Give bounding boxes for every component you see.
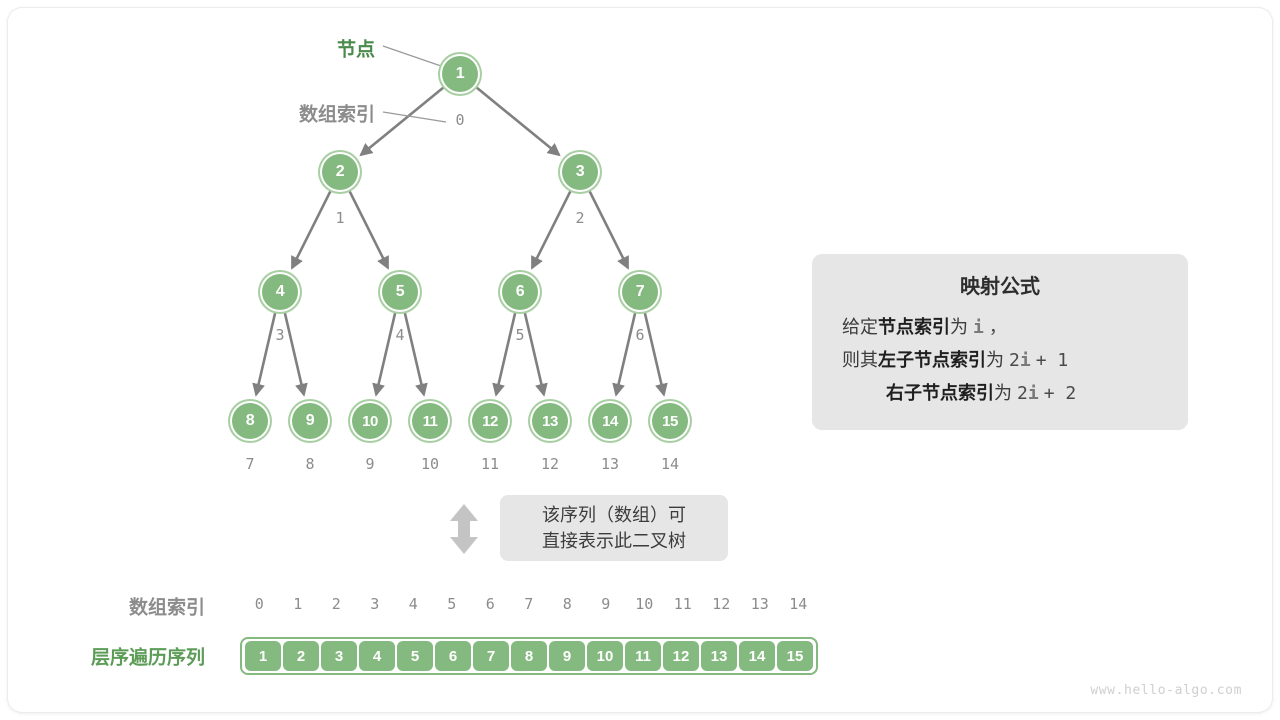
formula-l2-rest: + 1 [1036, 350, 1069, 371]
array-value-cell[interactable]: 7 [473, 641, 509, 671]
formula-l3-rest: + 2 [1044, 383, 1077, 404]
tree-index-label-8: 8 [305, 455, 314, 473]
formula-l1-pre: 给定 [842, 317, 878, 337]
array-index-cell: 2 [317, 595, 356, 617]
array-value-cell[interactable]: 2 [283, 641, 319, 671]
diagram-canvas: 123456789101112131415 012345678910111213… [0, 0, 1280, 720]
array-value-cell[interactable]: 11 [625, 641, 661, 671]
tree-index-label-4: 4 [395, 326, 404, 344]
tree-node-12: 12 [472, 403, 508, 439]
array-index-row-label: 数组索引 [129, 593, 205, 620]
array-index-cell: 7 [510, 595, 549, 617]
formula-l3-var: i [1028, 383, 1039, 404]
array-index-cell: 5 [433, 595, 472, 617]
array-index-cell: 10 [625, 595, 664, 617]
formula-l1-var: i [973, 317, 984, 338]
tree-index-label-1: 1 [335, 209, 344, 227]
tree-index-label-12: 12 [541, 455, 559, 473]
array-index-cell: 6 [471, 595, 510, 617]
array-value-cell[interactable]: 5 [397, 641, 433, 671]
array-index-cell: 12 [702, 595, 741, 617]
tree-node-15: 15 [652, 403, 688, 439]
formula-l3-num: 2 [1017, 383, 1028, 404]
array-value-cell[interactable]: 1 [245, 641, 281, 671]
tree-node-11: 11 [412, 403, 448, 439]
array-index-cell: 8 [548, 595, 587, 617]
formula-l3-bold: 右子节点索引 [886, 383, 994, 403]
array-value-cell[interactable]: 6 [435, 641, 471, 671]
tree-node-2: 2 [322, 154, 358, 190]
array-value-cell[interactable]: 3 [321, 641, 357, 671]
tree-index-label-14: 14 [661, 455, 679, 473]
formula-l2-num: 2 [1009, 350, 1020, 371]
formula-title: 映射公式 [960, 270, 1040, 299]
tree-index-label-3: 3 [275, 326, 284, 344]
array-index-row: 01234567891011121314 [240, 595, 818, 617]
array-values-row-label: 层序遍历序列 [91, 643, 205, 670]
tree-index-label-13: 13 [601, 455, 619, 473]
mapping-formula-box: 映射公式 给定节点索引为 i ， 则其左子节点索引为 2i + 1 右子节点索引… [812, 254, 1188, 430]
sequence-note-box: 该序列（数组）可 直接表示此二叉树 [500, 495, 728, 561]
tree-node-3: 3 [562, 154, 598, 190]
note-line-1: 该序列（数组）可 [542, 502, 686, 528]
array-value-cell[interactable]: 9 [549, 641, 585, 671]
array-value-cell[interactable]: 14 [739, 641, 775, 671]
formula-l2-var: i [1020, 350, 1031, 371]
formula-line-2: 则其左子节点索引为 2i + 1 [830, 346, 1170, 372]
tree-node-5: 5 [382, 274, 418, 310]
formula-line-1: 给定节点索引为 i ， [830, 313, 1170, 339]
formula-l1-bold: 节点索引 [878, 317, 950, 337]
formula-l2-mid: 为 [986, 350, 1004, 370]
watermark: www.hello-algo.com [1090, 683, 1242, 698]
tree-node-14: 14 [592, 403, 628, 439]
tree-index-label-2: 2 [575, 209, 584, 227]
tree-node-4: 4 [262, 274, 298, 310]
formula-line-3: 右子节点索引为 2i + 2 [830, 379, 1170, 405]
array-value-cell[interactable]: 13 [701, 641, 737, 671]
array-value-cell[interactable]: 8 [511, 641, 547, 671]
array-index-cell: 9 [587, 595, 626, 617]
array-index-cell: 0 [240, 595, 279, 617]
up-down-arrow-icon [448, 503, 480, 555]
tree-index-label-7: 7 [245, 455, 254, 473]
annotation-array-index-label: 数组索引 [299, 100, 375, 127]
array-value-cell[interactable]: 10 [587, 641, 623, 671]
tree-index-label-11: 11 [481, 455, 499, 473]
tree-index-label-10: 10 [421, 455, 439, 473]
tree-index-label-9: 9 [365, 455, 374, 473]
tree-node-8: 8 [232, 403, 268, 439]
tree-node-13: 13 [532, 403, 568, 439]
tree-node-10: 10 [352, 403, 388, 439]
formula-l1-mid: 为 [950, 317, 968, 337]
formula-l1-post: ， [989, 317, 1007, 338]
array-value-cell[interactable]: 4 [359, 641, 395, 671]
array-index-cell: 13 [741, 595, 780, 617]
tree-node-9: 9 [292, 403, 328, 439]
array-value-cell[interactable]: 15 [777, 641, 813, 671]
array-index-cell: 11 [664, 595, 703, 617]
formula-l2-bold: 左子节点索引 [878, 350, 986, 370]
tree-node-7: 7 [622, 274, 658, 310]
array-cells-container: 123456789101112131415 [240, 637, 818, 675]
tree-index-label-5: 5 [515, 326, 524, 344]
note-line-2: 直接表示此二叉树 [542, 528, 686, 554]
tree-index-label-6: 6 [635, 326, 644, 344]
formula-l3-mid: 为 [994, 383, 1012, 403]
formula-l2-pre: 则其 [842, 350, 878, 370]
array-index-cell: 14 [779, 595, 818, 617]
formula-body: 给定节点索引为 i ， 则其左子节点索引为 2i + 1 右子节点索引为 2i … [830, 313, 1170, 405]
tree-node-6: 6 [502, 274, 538, 310]
array-value-cell[interactable]: 12 [663, 641, 699, 671]
tree-index-label-0: 0 [455, 111, 464, 129]
array-index-cell: 4 [394, 595, 433, 617]
array-index-cell: 1 [279, 595, 318, 617]
array-index-cell: 3 [356, 595, 395, 617]
annotation-node-label: 节点 [337, 35, 375, 62]
tree-node-1: 1 [442, 56, 478, 92]
